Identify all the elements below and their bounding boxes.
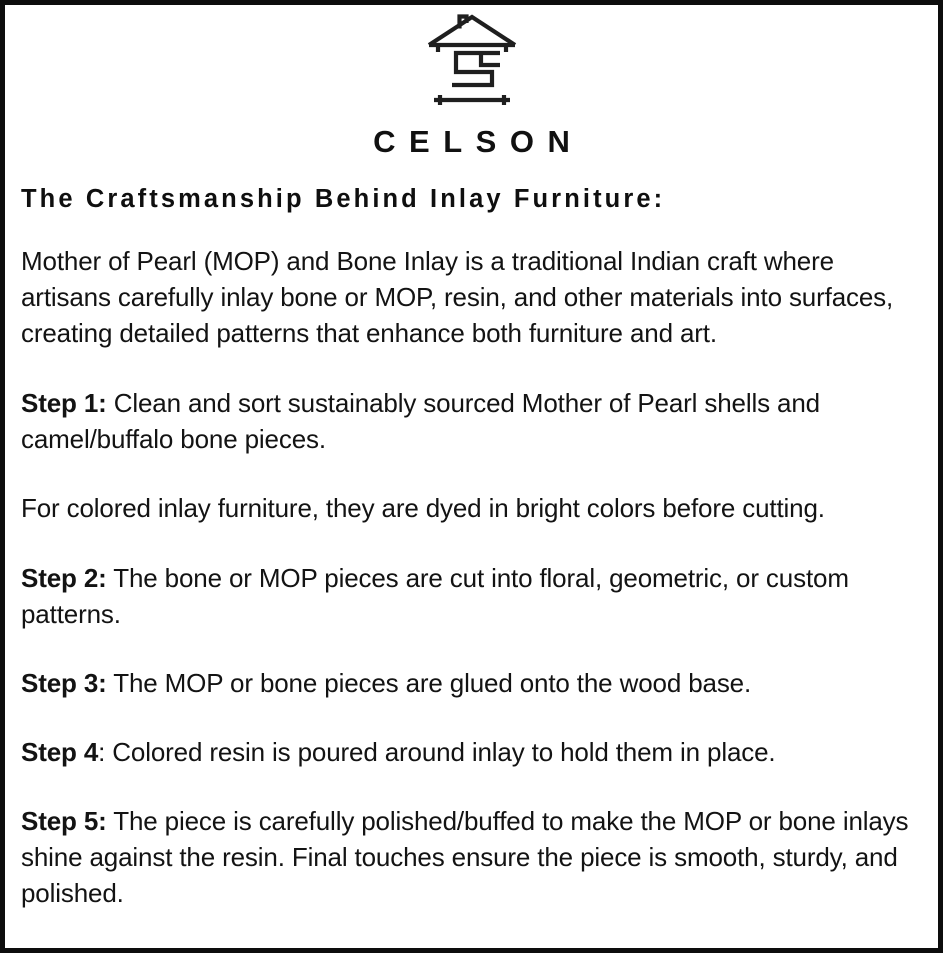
paragraph-lead: Step 3:: [21, 668, 107, 698]
brand-name: CELSON: [5, 126, 938, 157]
paragraph-text: Clean and sort sustainably sourced Mothe…: [21, 388, 820, 454]
paragraph-lead: Step 5:: [21, 806, 107, 836]
content-body: The Craftsmanship Behind Inlay Furniture…: [5, 185, 938, 911]
paragraph-text: Mother of Pearl (MOP) and Bone Inlay is …: [21, 246, 893, 348]
page-title: The Craftsmanship Behind Inlay Furniture…: [21, 185, 926, 213]
paragraph-step-4: Step 4: Colored resin is poured around i…: [21, 734, 926, 770]
paragraph-lead: Step 1:: [21, 388, 107, 418]
paragraph-note: For colored inlay furniture, they are dy…: [21, 490, 926, 526]
paragraph-step-5: Step 5: The piece is carefully polished/…: [21, 803, 926, 911]
house-monogram-logo-icon: [426, 12, 518, 112]
paragraph-step-3: Step 3: The MOP or bone pieces are glued…: [21, 665, 926, 701]
paragraph-text: : Colored resin is poured around inlay t…: [98, 737, 775, 767]
paragraph-step-2: Step 2: The bone or MOP pieces are cut i…: [21, 560, 926, 632]
paragraph-text: The piece is carefully polished/buffed t…: [21, 806, 908, 908]
paragraph-lead: Step 2:: [21, 563, 107, 593]
paragraph-lead: Step 4: [21, 737, 98, 767]
paragraph-text: The MOP or bone pieces are glued onto th…: [107, 668, 751, 698]
paragraph-text: The bone or MOP pieces are cut into flor…: [21, 563, 849, 629]
infographic-card: CELSON The Craftsmanship Behind Inlay Fu…: [0, 0, 943, 953]
brand-header: CELSON: [5, 5, 938, 157]
paragraph-step-1: Step 1: Clean and sort sustainably sourc…: [21, 385, 926, 457]
paragraph-text: For colored inlay furniture, they are dy…: [21, 493, 825, 523]
paragraph-intro: Mother of Pearl (MOP) and Bone Inlay is …: [21, 243, 926, 351]
